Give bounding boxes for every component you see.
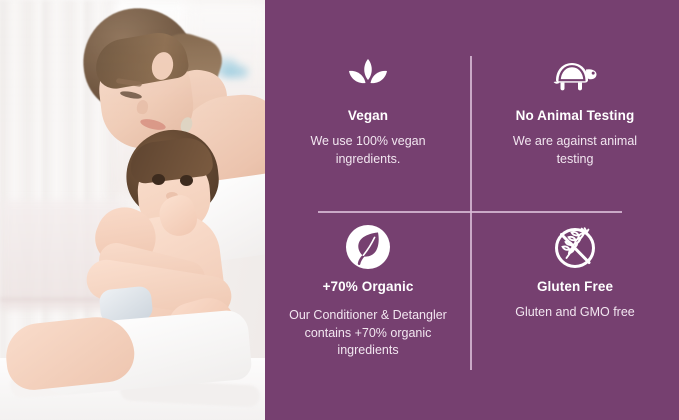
turtle-icon bbox=[550, 54, 600, 98]
feature-no-animal-testing: No Animal Testing We are against animal … bbox=[471, 0, 679, 211]
feature-title: Gluten Free bbox=[537, 280, 613, 295]
leaf-circle-icon bbox=[345, 225, 391, 269]
feature-description: Gluten and GMO free bbox=[515, 304, 635, 322]
feature-title: Vegan bbox=[348, 109, 388, 124]
feature-vegan: Vegan We use 100% vegan ingredients. bbox=[265, 0, 471, 211]
feature-title: +70% Organic bbox=[323, 280, 414, 295]
feature-organic: +70% Organic Our Conditioner & Detangler… bbox=[265, 211, 471, 420]
features-grid-panel: Vegan We use 100% vegan ingredients. bbox=[265, 0, 679, 420]
feature-description: Our Conditioner & Detangler contains +70… bbox=[288, 307, 448, 360]
feature-gluten-free: Gluten Free Gluten and GMO free bbox=[471, 211, 679, 420]
no-wheat-icon bbox=[550, 225, 600, 269]
feature-description: We use 100% vegan ingredients. bbox=[278, 133, 458, 169]
feature-description: We are against animal testing bbox=[500, 133, 650, 169]
baby-eye-left bbox=[152, 174, 165, 185]
feature-title: No Animal Testing bbox=[516, 109, 635, 124]
three-leaves-icon bbox=[346, 54, 390, 98]
mother-and-baby-photo bbox=[0, 0, 265, 420]
product-benefits-banner: Vegan We use 100% vegan ingredients. bbox=[0, 0, 679, 420]
features-grid: Vegan We use 100% vegan ingredients. bbox=[265, 0, 679, 420]
baby-eye-right bbox=[180, 175, 193, 186]
photo-background-teal-accent-2 bbox=[222, 66, 248, 78]
